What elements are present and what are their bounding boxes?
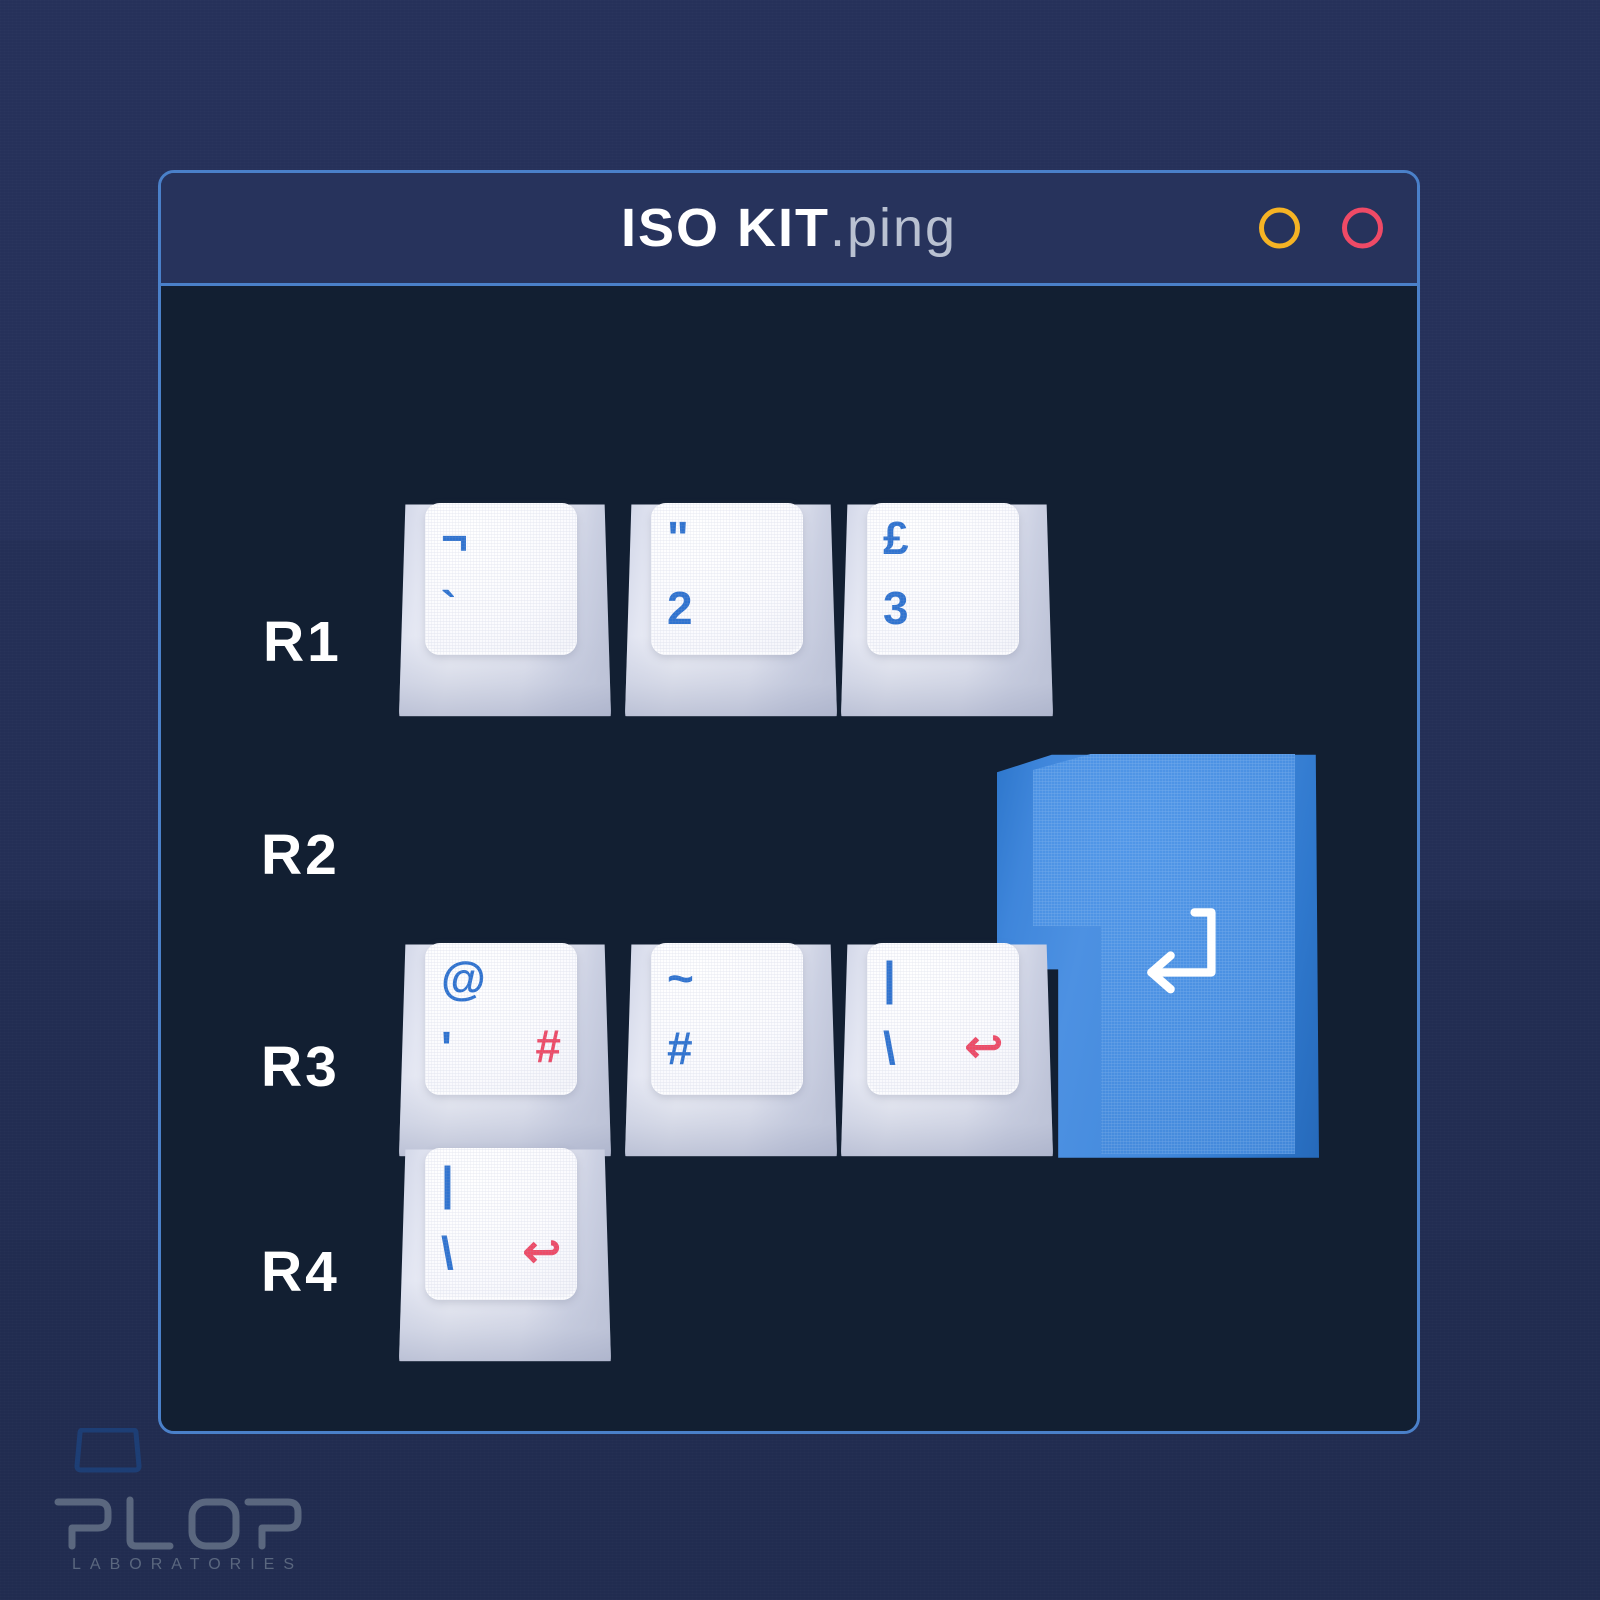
enter-arrow-icon xyxy=(1125,886,1245,1006)
keycap-r4-backslash[interactable]: | \ ↩ xyxy=(399,1138,611,1368)
legend-top-left: ¬ xyxy=(441,515,468,561)
screenshot-stage: ISO KIT.ping R1 R2 R3 R4 ¬ ` xyxy=(0,0,1600,1600)
keycap-r1-grave[interactable]: ¬ ` xyxy=(399,493,611,723)
legend-top-left: " xyxy=(667,515,689,561)
legend-bottom-left: \ xyxy=(883,1025,896,1071)
keycap-r3-backslash[interactable]: | \ ↩ xyxy=(841,933,1053,1163)
keycap-top: ¬ ` xyxy=(425,503,577,655)
window-body: R1 R2 R3 R4 ¬ ` " 2 xyxy=(161,286,1417,1431)
legend-bottom-left: ' xyxy=(441,1025,452,1071)
legend-bottom-left: ` xyxy=(441,585,456,631)
close-button[interactable] xyxy=(1342,208,1383,249)
keycap-r1-3[interactable]: £ 3 xyxy=(841,493,1053,723)
keycap-top: | \ ↩ xyxy=(867,943,1019,1095)
window-title-main: ISO KIT xyxy=(621,198,830,258)
keycap-top: @ ' # xyxy=(425,943,577,1095)
plop-wordmark-icon xyxy=(52,1488,302,1550)
legend-bottom-right: ↩ xyxy=(522,1228,561,1274)
window-titlebar: ISO KIT.ping xyxy=(161,173,1417,286)
keycap-r3-quote[interactable]: @ ' # xyxy=(399,933,611,1163)
keycap-r1-2[interactable]: " 2 xyxy=(625,493,837,723)
row-label-r4: R4 xyxy=(261,1239,340,1305)
keycap-top: " 2 xyxy=(651,503,803,655)
window-title-extension: .ping xyxy=(830,198,957,258)
legend-bottom-left: # xyxy=(667,1025,693,1071)
keycap-logo-icon xyxy=(74,1428,142,1474)
legend-bottom-left: 2 xyxy=(667,585,693,631)
row-label-r2: R2 xyxy=(261,822,340,888)
row-label-r1: R1 xyxy=(263,609,342,675)
keycap-top: £ 3 xyxy=(867,503,1019,655)
plop-laboratories-logo: LABORATORIES xyxy=(52,1428,302,1578)
window-title: ISO KIT.ping xyxy=(621,197,957,259)
legend-bottom-left: \ xyxy=(441,1230,454,1276)
keycap-top: ~ # xyxy=(651,943,803,1095)
legend-bottom-right: ↩ xyxy=(964,1023,1003,1069)
legend-top-left: @ xyxy=(441,955,486,1001)
legend-top-left: ~ xyxy=(667,955,694,1001)
keycap-top: | \ ↩ xyxy=(425,1148,577,1300)
row-label-r3: R3 xyxy=(261,1034,340,1100)
legend-bottom-right: # xyxy=(535,1023,561,1069)
minimize-button[interactable] xyxy=(1259,208,1300,249)
window-controls xyxy=(1259,208,1383,249)
legend-top-left: £ xyxy=(883,515,909,561)
legend-top-left: | xyxy=(883,955,896,1001)
logo-subtitle: LABORATORIES xyxy=(72,1556,303,1574)
legend-top-left: | xyxy=(441,1160,454,1206)
app-window: ISO KIT.ping R1 R2 R3 R4 ¬ ` xyxy=(158,170,1420,1434)
legend-bottom-left: 3 xyxy=(883,585,909,631)
keycap-r3-hash[interactable]: ~ # xyxy=(625,933,837,1163)
